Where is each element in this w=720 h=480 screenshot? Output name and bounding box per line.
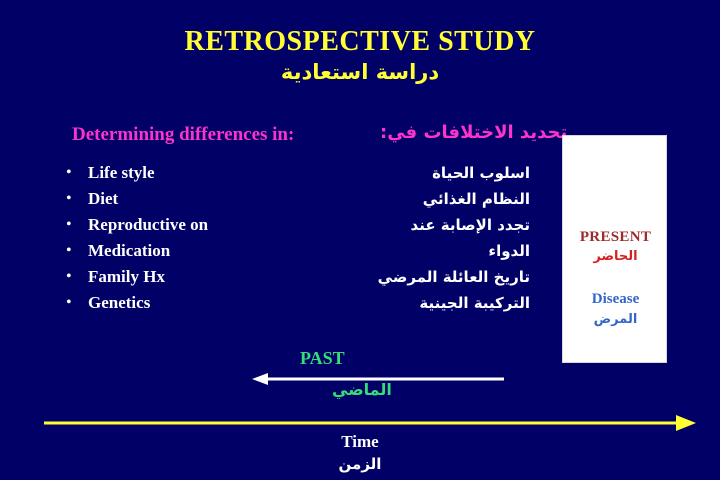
list-item: • Life style اسلوب الحياة <box>60 160 530 186</box>
bullet-marker-icon: • <box>66 186 72 212</box>
present-panel: PRESENT الحاضر Disease المرض <box>562 135 667 363</box>
bullet-marker-icon: • <box>66 238 72 264</box>
subheading-arabic: تحديد الاختلافات في: <box>380 122 567 143</box>
list-item: • Reproductive on تجدد الإصابة عند <box>60 212 530 238</box>
bullet-marker-icon: • <box>66 160 72 186</box>
list-item-label-arabic: النظام الغذائي <box>423 186 530 212</box>
bullet-marker-icon: • <box>66 212 72 238</box>
time-label-english: Time <box>0 432 720 452</box>
list-item-label-arabic: الدواء <box>488 238 530 264</box>
disease-label-english: Disease <box>563 291 668 308</box>
list-item-label-arabic: اسلوب الحياة <box>432 160 530 186</box>
page-title: RETROSPECTIVE STUDY <box>0 28 720 56</box>
list-item-label-english: Life style <box>88 160 155 186</box>
list-item: • Family Hx تاريخ العائلة المرضي <box>60 264 530 290</box>
list-item-label-arabic: تجدد الإصابة عند <box>411 212 530 238</box>
page-title-arabic: دراسة استعادية <box>0 62 720 83</box>
list-item-label-english: Reproductive on <box>88 212 208 238</box>
list-item: • Diet النظام الغذائي <box>60 186 530 212</box>
list-item: • Genetics التركيبة الجينية <box>60 290 530 316</box>
time-label-arabic: الزمن <box>0 455 720 473</box>
list-item-label-arabic: تاريخ العائلة المرضي <box>378 264 530 290</box>
time-arrow-icon <box>44 414 696 432</box>
present-label-arabic: الحاضر <box>563 249 668 264</box>
factor-list: • Life style اسلوب الحياة • Diet النظام … <box>60 160 530 316</box>
subheading-english: Determining differences in: <box>72 124 294 146</box>
list-item-label-english: Family Hx <box>88 264 165 290</box>
slide-canvas: RETROSPECTIVE STUDY دراسة استعادية Deter… <box>0 0 720 480</box>
disease-label-arabic: المرض <box>563 312 668 327</box>
list-item-label-arabic: التركيبة الجينية <box>419 290 530 316</box>
bullet-marker-icon: • <box>66 290 72 316</box>
list-item: • Medication الدواء <box>60 238 530 264</box>
list-item-label-english: Genetics <box>88 290 150 316</box>
past-label-arabic: الماضي <box>332 380 392 399</box>
present-label-english: PRESENT <box>563 229 668 246</box>
list-item-label-english: Diet <box>88 186 118 212</box>
list-item-label-english: Medication <box>88 238 170 264</box>
bullet-marker-icon: • <box>66 264 72 290</box>
past-label-english: PAST <box>300 348 345 369</box>
